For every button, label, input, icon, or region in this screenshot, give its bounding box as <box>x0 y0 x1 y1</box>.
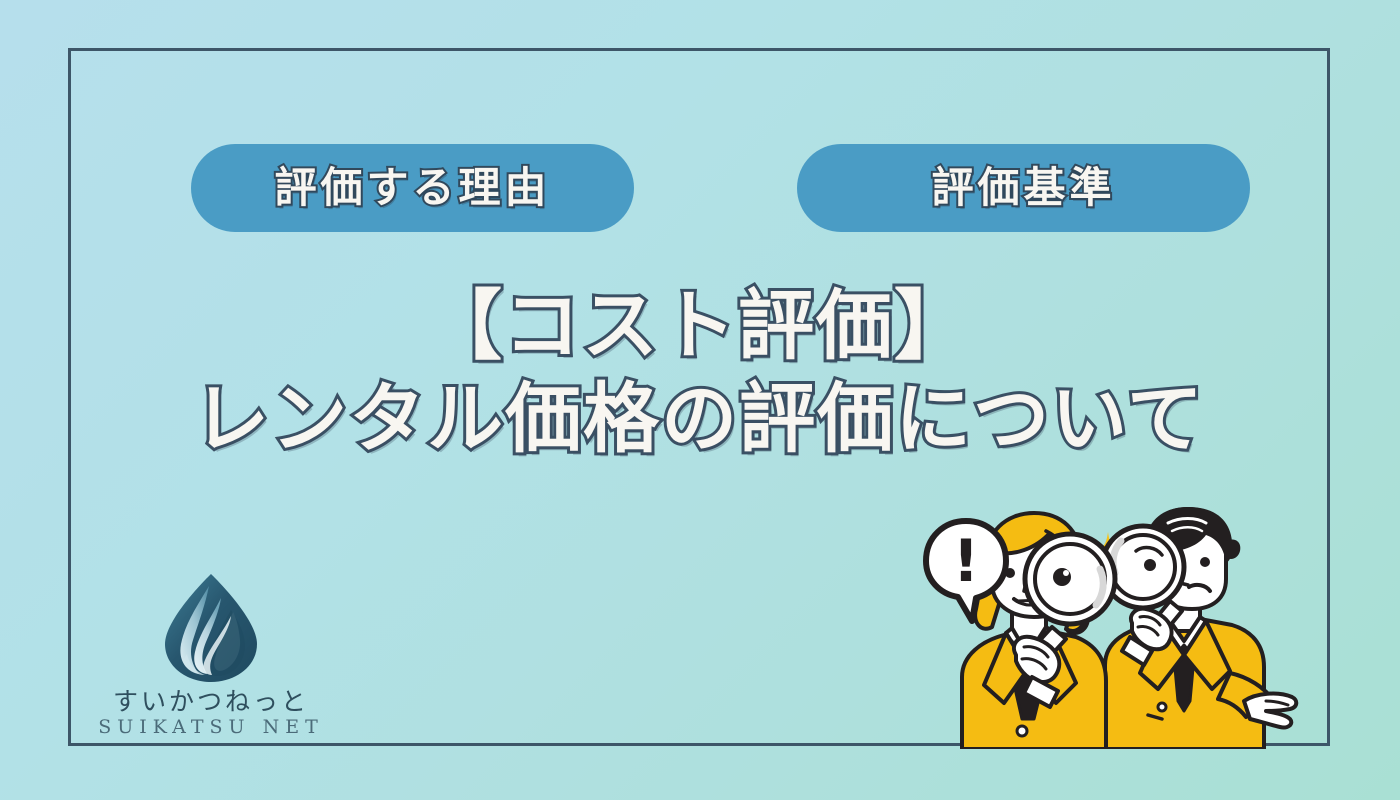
pill-badge-reasons[interactable]: 評価する理由 <box>191 144 634 232</box>
page-title-line-2: レンタル価格の評価について <box>68 373 1330 466</box>
page-title-line-1: 【コスト評価】 <box>68 280 1330 373</box>
pill-badge-criteria[interactable]: 評価基準 <box>797 144 1250 232</box>
water-drop-icon <box>153 572 269 684</box>
site-logo-name-en: SUIKATSU NET <box>96 717 326 738</box>
site-logo-name-jp: すいかつねっと <box>96 688 326 716</box>
site-logo[interactable]: すいかつねっと SUIKATSU NET <box>96 572 326 737</box>
person-man <box>1102 507 1296 749</box>
pill-badge-reasons-label: 評価する理由 <box>274 167 550 209</box>
illustration-two-people-with-magnifying-glasses: ! <box>900 505 1300 749</box>
page-title: 【コスト評価】 レンタル価格の評価について <box>68 280 1330 465</box>
speech-bubble-text: ! <box>953 527 979 595</box>
hero-banner: 評価する理由 評価基準 【コスト評価】 レンタル価格の評価について <box>0 0 1400 800</box>
pill-badge-criteria-label: 評価基準 <box>931 167 1115 209</box>
